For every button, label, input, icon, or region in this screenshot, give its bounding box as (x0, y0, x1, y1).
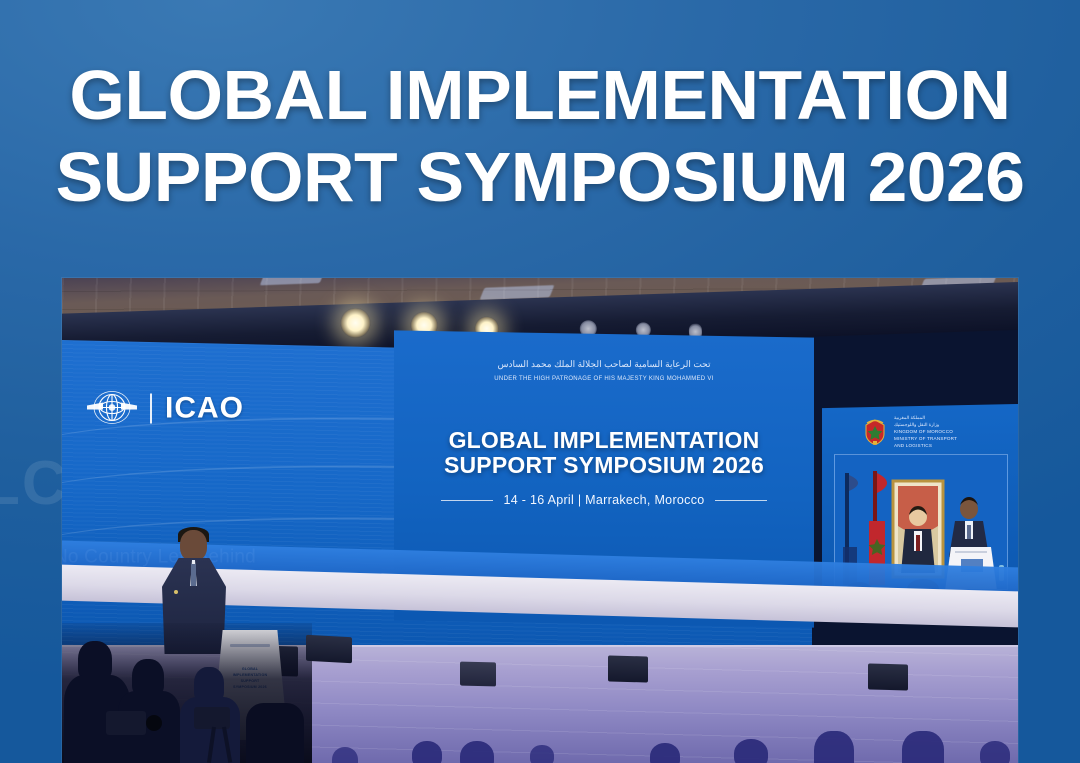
ministry-line-5: AND LOGISTICS (894, 443, 932, 448)
patronage-block: تحت الرعاية السامية لصاحب الجلالة الملك … (394, 358, 814, 384)
morocco-coat-of-arms-icon (864, 419, 886, 445)
stage-monitor-2 (608, 655, 648, 682)
page-title: GLOBAL IMPLEMENTATION SUPPORT SYMPOSIUM … (0, 62, 1080, 212)
press-photographers (62, 623, 312, 763)
screen-date-location: 14 - 16 April | Marrakech, Morocco (394, 493, 814, 507)
wedge-monitor-left (306, 635, 352, 663)
icao-roundel-icon (86, 389, 138, 429)
screen-title-line-1: GLOBAL IMPLEMENTATION (394, 428, 814, 454)
rule-right (715, 500, 767, 501)
ministry-line-1: المملكة المغربية (894, 415, 925, 420)
ministry-line-2: وزارة النقل واللوجستيك (894, 422, 939, 427)
audience-head-6 (814, 731, 854, 763)
audience-head-2 (460, 741, 494, 763)
icao-wordmark: ICAO (150, 394, 244, 424)
stage-monitor-3 (868, 663, 908, 690)
audience-head-4 (650, 743, 680, 763)
icao-logo: ICAO (86, 389, 244, 429)
speaker-head (180, 530, 207, 561)
audience-head-5 (734, 739, 768, 763)
poster-canvas: LCO GLOBAL IMPLEMENTATION SUPPORT SYMPOS… (0, 0, 1080, 763)
videographer-silhouette (246, 703, 304, 763)
ministry-lockup: المملكة المغربية وزارة النقل واللوجستيك … (822, 406, 1018, 450)
headline-line-2: SUPPORT SYMPOSIUM 2026 (0, 144, 1080, 212)
audience-head-1 (412, 741, 442, 763)
lapel-pin (174, 590, 178, 594)
speaker-tie (191, 564, 196, 586)
stage-monitor-4 (460, 662, 496, 687)
headline-line-1: GLOBAL IMPLEMENTATION (0, 62, 1080, 130)
screen-title: GLOBAL IMPLEMENTATION SUPPORT SYMPOSIUM … (394, 428, 814, 480)
ministry-line-3: KINGDOM OF MOROCCO (894, 429, 953, 434)
camera-2 (194, 707, 230, 729)
patronage-arabic: تحت الرعاية السامية لصاحب الجلالة الملك … (394, 358, 814, 372)
audience-head-3 (530, 745, 554, 763)
audience-head-7 (902, 731, 944, 763)
patronage-english: UNDER THE HIGH PATRONAGE OF HIS MAJESTY … (494, 376, 713, 382)
audience-head-8 (980, 741, 1010, 763)
ministry-text: المملكة المغربية وزارة النقل واللوجستيك … (894, 414, 957, 450)
event-photograph: ICAO No Country Left Behind تحت الرعاية … (62, 278, 1018, 763)
stage-light-1 (340, 307, 371, 338)
date-location-text: 14 - 16 April | Marrakech, Morocco (503, 493, 704, 507)
ministry-line-4: MINISTRY OF TRANSPORT (894, 436, 957, 441)
screen-title-line-2: SUPPORT SYMPOSIUM 2026 (394, 453, 814, 479)
camera-lens (146, 715, 162, 731)
camera-1 (106, 711, 146, 735)
rule-left (441, 500, 493, 501)
